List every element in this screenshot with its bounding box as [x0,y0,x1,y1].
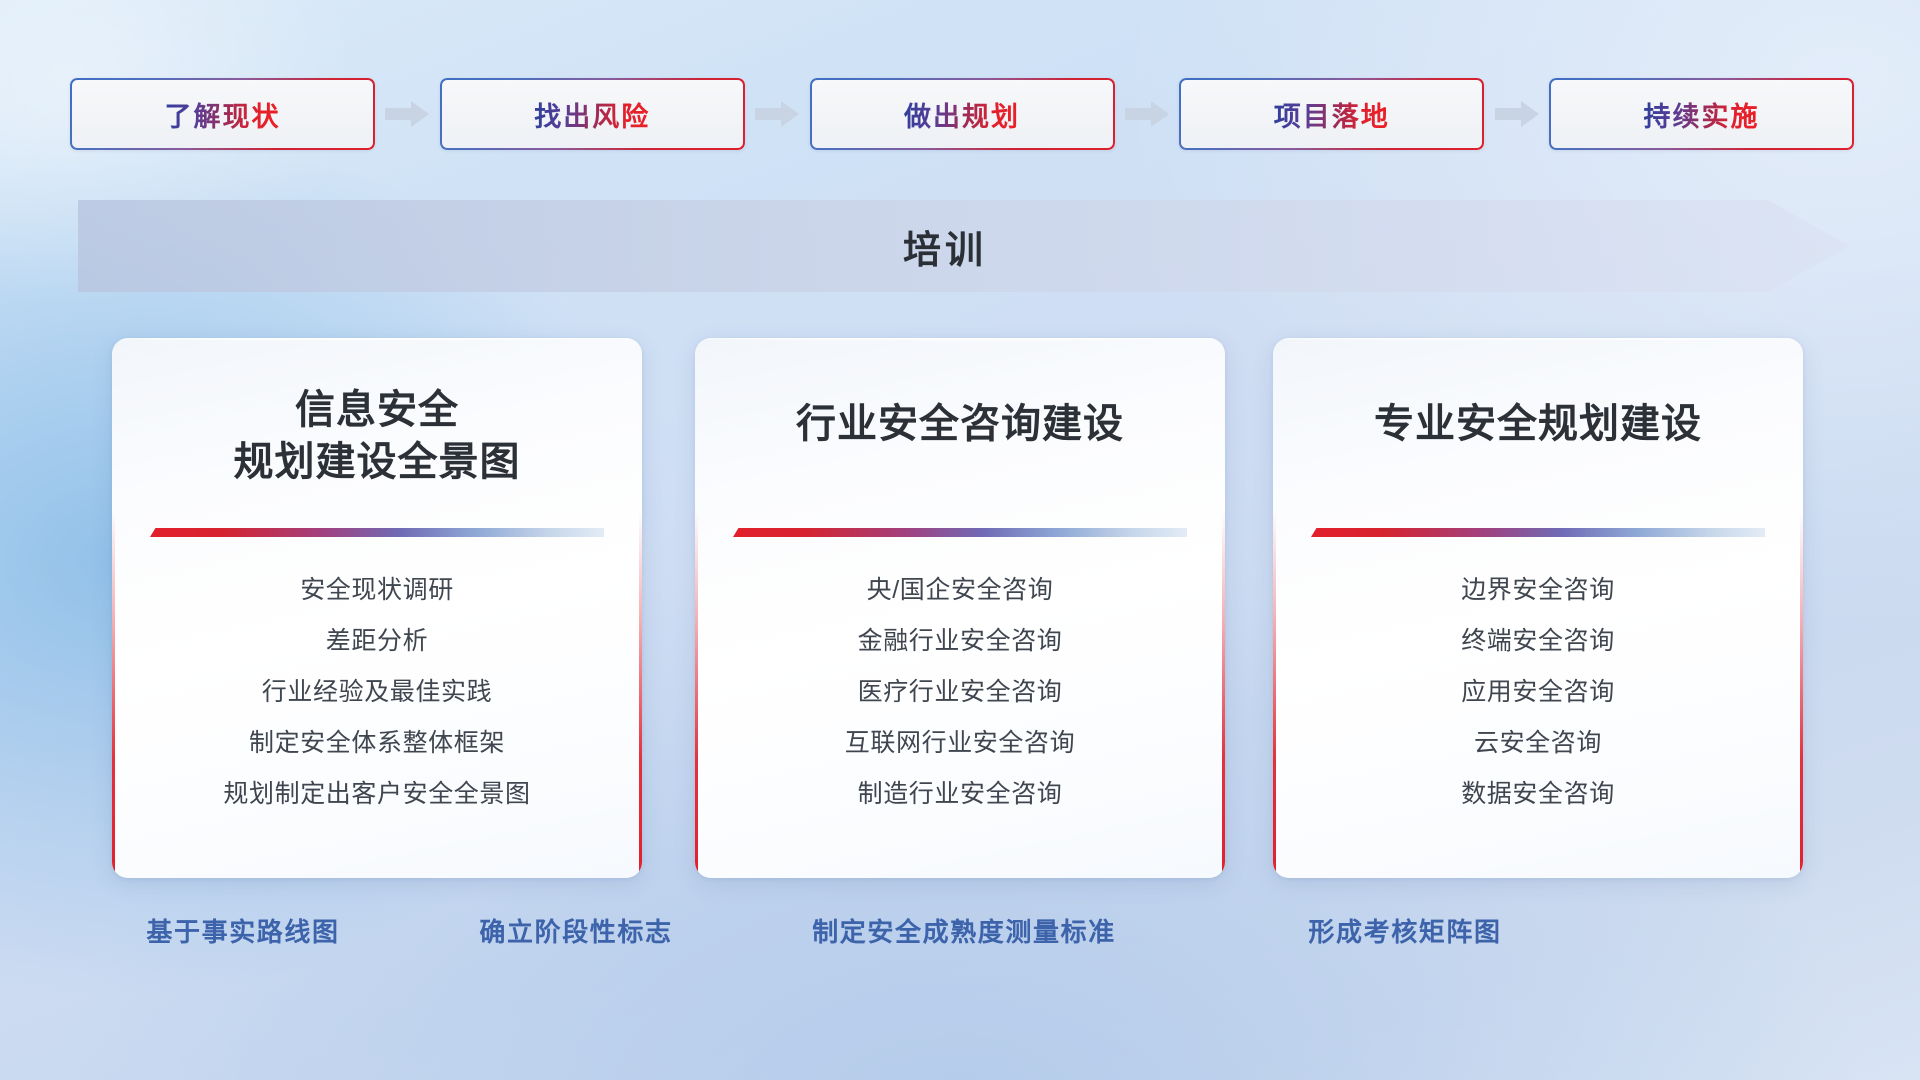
list-item: 应用安全咨询 [1273,680,1803,705]
list-item: 数据安全咨询 [1273,782,1803,807]
card-professional-security-planning[interactable]: 专业安全规划建设 边界安全咨询 终端安全咨询 应用安全咨询 云安全咨询 数据安全… [1273,338,1803,878]
card-top-hairline [112,338,642,340]
step-label: 持续实施 [1644,95,1760,134]
card-title: 行业安全咨询建设 [695,398,1225,450]
card-list: 安全现状调研 差距分析 行业经验及最佳实践 制定安全体系整体框架 规划制定出客户… [112,578,642,807]
list-item: 医疗行业安全咨询 [695,680,1225,705]
list-item: 制造行业安全咨询 [695,782,1225,807]
step-box-3[interactable]: 做出规划 [810,78,1115,150]
arrow-right-icon [755,101,799,127]
card-top-hairline [1273,338,1803,340]
step-label: 了解现状 [165,95,281,134]
bottom-label-1: 基于事实路线图 [146,912,339,949]
card-list: 央/国企安全咨询 金融行业安全咨询 医疗行业安全咨询 互联网行业安全咨询 制造行… [695,578,1225,807]
step-label: 找出风险 [534,95,650,134]
cards-row: 信息安全 规划建设全景图 安全现状调研 差距分析 行业经验及最佳实践 制定安全体… [0,338,1920,878]
list-item: 互联网行业安全咨询 [695,731,1225,756]
step-box-5[interactable]: 持续实施 [1549,78,1854,150]
bottom-label-3: 制定安全成熟度测量标准 [812,912,1116,949]
list-item: 央/国企安全咨询 [695,578,1225,603]
bottom-label-row: 基于事实路线图 确立阶段性标志 制定安全成熟度测量标准 形成考核矩阵图 [0,912,1920,962]
card-title-line1: 专业安全规划建设 [1297,398,1779,450]
training-banner: 培训 [78,200,1850,292]
step-label: 做出规划 [904,95,1020,134]
step-arrow-1 [375,101,440,127]
step-arrow-4 [1484,101,1549,127]
card-information-security[interactable]: 信息安全 规划建设全景图 安全现状调研 差距分析 行业经验及最佳实践 制定安全体… [112,338,642,878]
card-title-line1: 信息安全 [136,384,618,436]
step-arrow-2 [745,101,810,127]
list-item: 规划制定出客户安全全景图 [112,782,642,807]
card-top-hairline [695,338,1225,340]
card-list: 边界安全咨询 终端安全咨询 应用安全咨询 云安全咨询 数据安全咨询 [1273,578,1803,807]
card-divider [150,528,604,537]
list-item: 差距分析 [112,629,642,654]
list-item: 终端安全咨询 [1273,629,1803,654]
arrow-right-icon [1125,101,1169,127]
step-label: 项目落地 [1274,95,1390,134]
banner-title-wrap: 培训 [78,200,1850,292]
step-arrow-3 [1115,101,1180,127]
card-divider [733,528,1187,537]
arrow-right-icon [1495,101,1539,127]
process-step-row: 了解现状 找出风险 做出规划 项目落地 [70,78,1854,150]
card-divider [1311,528,1765,537]
step-box-4[interactable]: 项目落地 [1179,78,1484,150]
list-item: 金融行业安全咨询 [695,629,1225,654]
card-title-line2: 规划建设全景图 [136,436,618,488]
list-item: 云安全咨询 [1273,731,1803,756]
arrow-right-icon [385,101,429,127]
card-title-line1: 行业安全咨询建设 [719,398,1201,450]
list-item: 安全现状调研 [112,578,642,603]
card-industry-security-consulting[interactable]: 行业安全咨询建设 央/国企安全咨询 金融行业安全咨询 医疗行业安全咨询 互联网行… [695,338,1225,878]
list-item: 制定安全体系整体框架 [112,731,642,756]
card-title: 专业安全规划建设 [1273,398,1803,450]
slide-canvas: 了解现状 找出风险 做出规划 项目落地 [0,0,1920,1080]
bottom-label-4: 形成考核矩阵图 [1308,912,1501,949]
step-box-2[interactable]: 找出风险 [440,78,745,150]
step-box-1[interactable]: 了解现状 [70,78,375,150]
banner-title: 培训 [903,219,987,274]
list-item: 行业经验及最佳实践 [112,680,642,705]
card-title: 信息安全 规划建设全景图 [112,384,642,488]
list-item: 边界安全咨询 [1273,578,1803,603]
bottom-label-2: 确立阶段性标志 [479,912,672,949]
